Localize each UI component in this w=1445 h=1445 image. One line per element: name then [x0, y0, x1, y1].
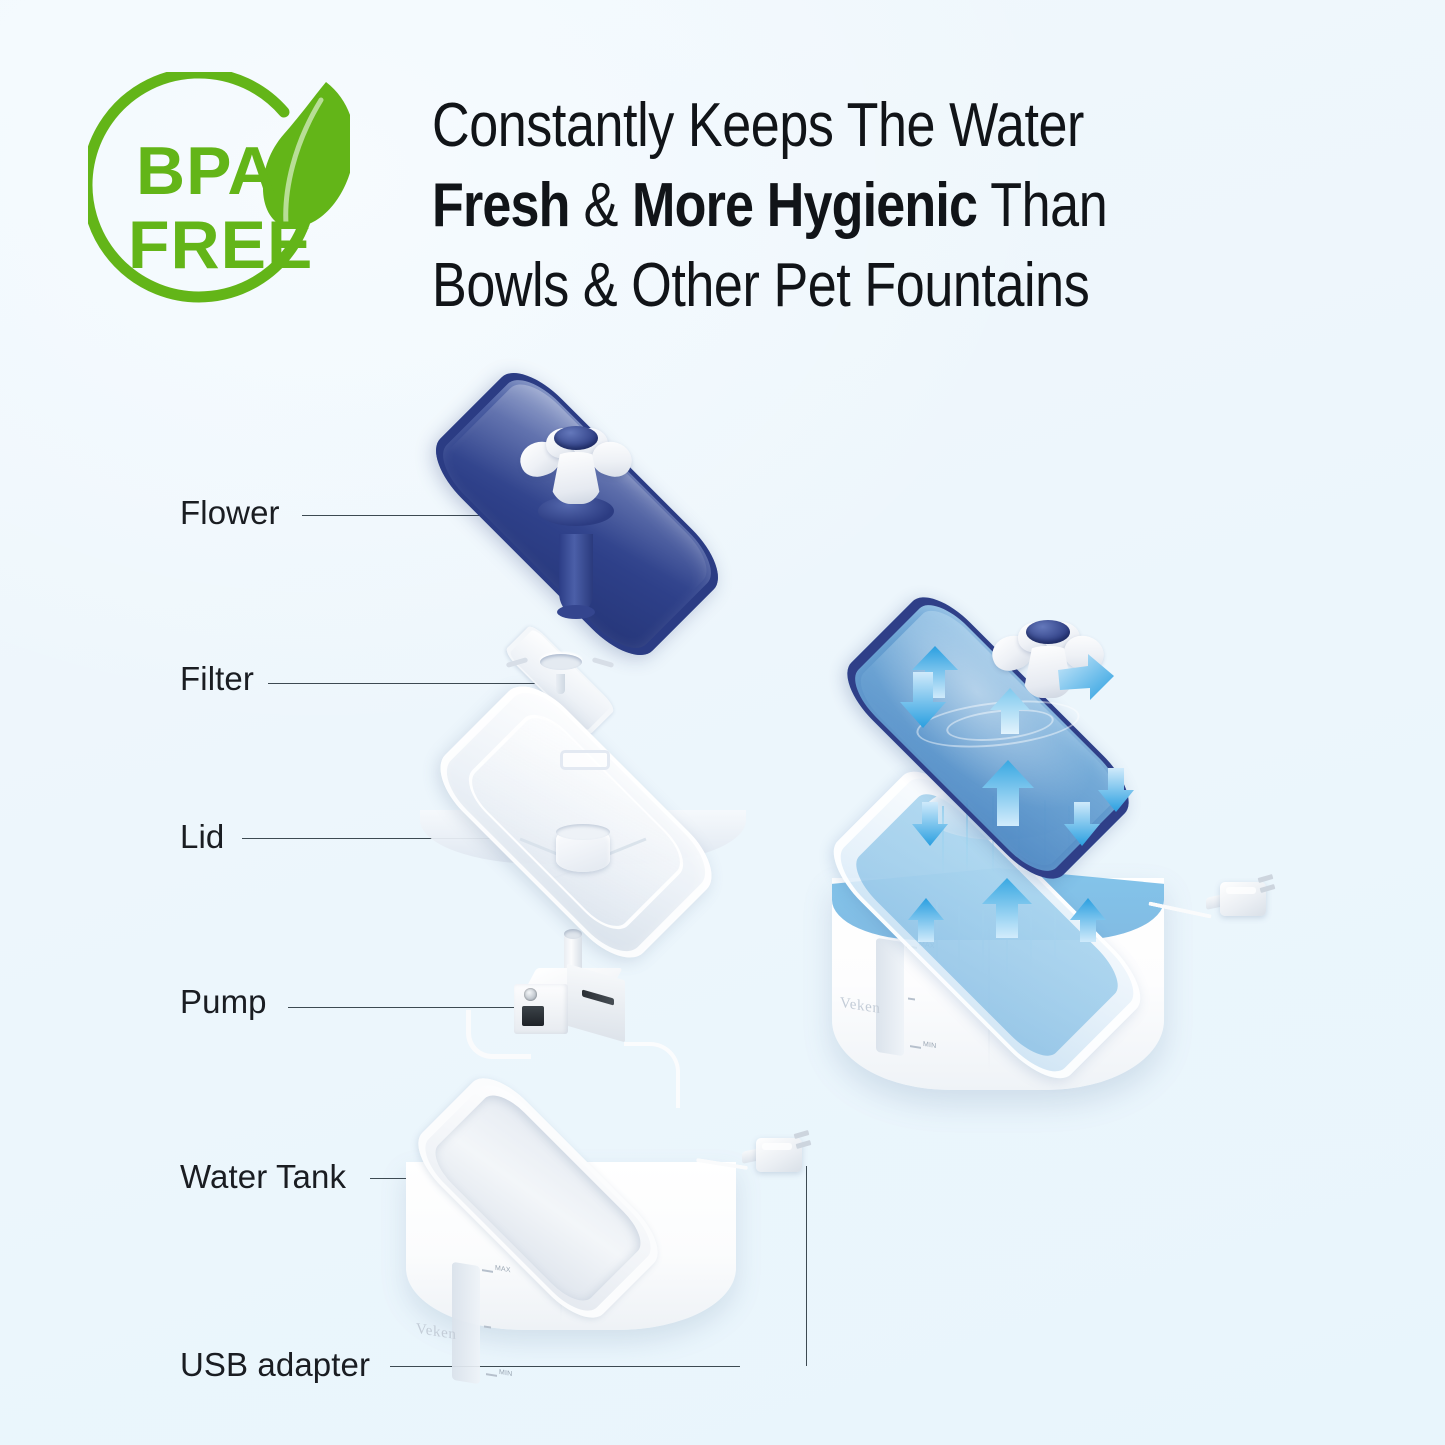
brand-logo: Veken: [416, 1321, 457, 1344]
flower-cap: [1026, 620, 1070, 644]
flower-petals: [520, 426, 632, 504]
tank-internal-cable: [624, 1042, 680, 1108]
label-filter: Filter: [180, 662, 254, 695]
filter-pin: [556, 674, 565, 694]
headline-line-3: Bowls & Other Pet Fountains: [432, 246, 1188, 326]
headline-emphasis-hygienic: More Hygienic: [632, 171, 977, 240]
filter-notch: [592, 657, 615, 668]
headline-ampersand: &: [570, 171, 632, 240]
leader-pump: [288, 1007, 530, 1008]
part-water-tank: MAX MIN Veken: [388, 1078, 808, 1378]
label-flower: Flower: [180, 496, 280, 529]
badge-line-1: BPA: [136, 133, 278, 209]
part-lid: [378, 744, 788, 944]
pump-dial-icon: [524, 988, 537, 1001]
filter-center-hole: [540, 654, 582, 670]
label-usb-adapter: USB adapter: [180, 1348, 370, 1381]
tank-tick-mid: [484, 1325, 491, 1328]
headline-emphasis-fresh: Fresh: [432, 171, 570, 240]
tank-tick-min: [486, 1373, 497, 1376]
assembly-level-window: [876, 938, 904, 1056]
label-lid: Lid: [180, 820, 224, 853]
usb-prong-icon: [1258, 874, 1274, 883]
infographic-canvas: BPA FREE Constantly Keeps The Water Fres…: [0, 0, 1445, 1445]
assembled-fountain: MAX MIN Veken: [796, 610, 1296, 1100]
headline-line-2-tail: Than: [977, 171, 1107, 240]
lid-tab-icon: [560, 750, 610, 770]
headline: Constantly Keeps The Water Fresh & More …: [432, 86, 1188, 326]
bpa-free-badge: BPA FREE: [88, 72, 350, 330]
headline-line-2: Fresh & More Hygienic Than: [432, 166, 1188, 246]
usb-prong-icon: [794, 1130, 810, 1139]
tank-label-min: MIN: [499, 1369, 512, 1378]
lid-center-socket: [556, 832, 610, 872]
badge-line-2: FREE: [128, 207, 313, 283]
label-water-tank: Water Tank: [180, 1160, 346, 1193]
label-pump: Pump: [180, 985, 267, 1018]
flower-cap: [554, 426, 598, 450]
flower-stem: [559, 534, 593, 612]
part-flower: [352, 404, 802, 624]
pump-cable: [466, 1010, 531, 1059]
tank-level-window: [452, 1262, 480, 1384]
headline-line-1: Constantly Keeps The Water: [432, 86, 1188, 166]
